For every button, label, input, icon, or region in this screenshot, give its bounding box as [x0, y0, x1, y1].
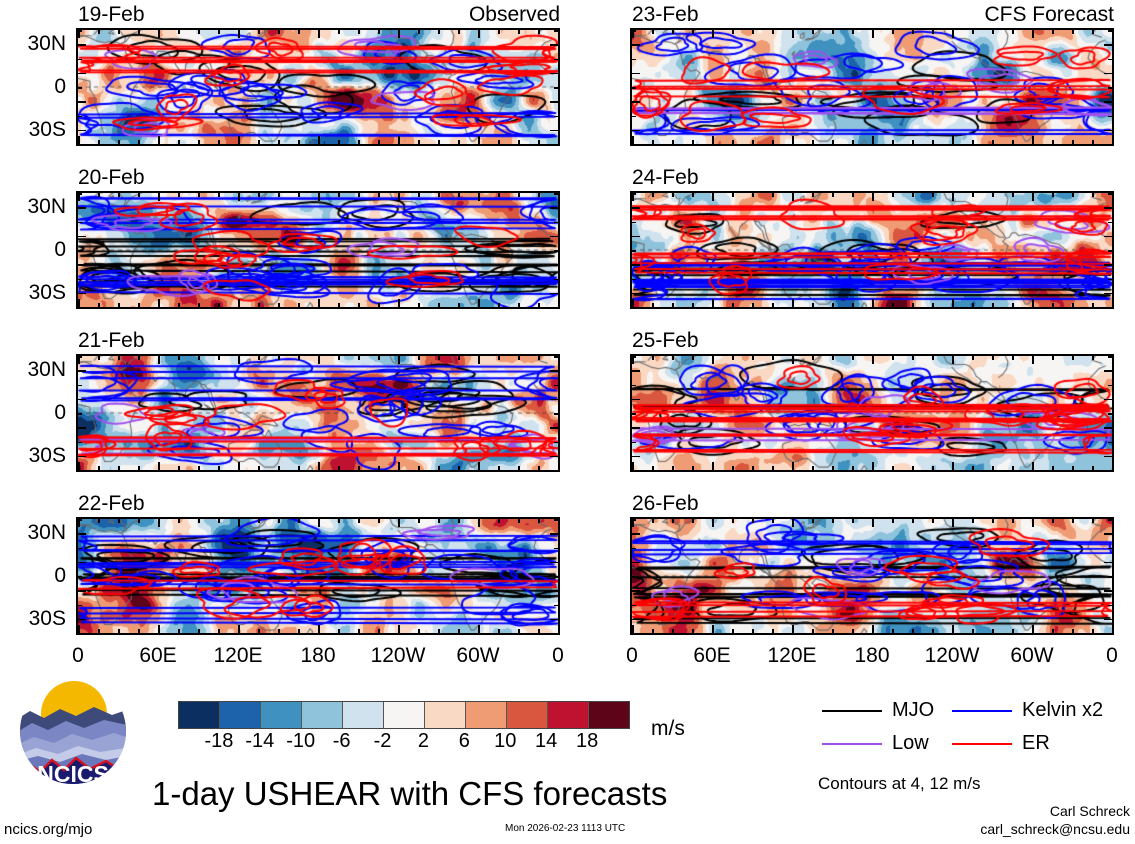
axis-tick: [438, 303, 440, 307]
axis-tick: [692, 629, 694, 633]
axis-tick: [692, 30, 694, 34]
axis-tick: [632, 87, 636, 89]
axis-tick: [1092, 519, 1094, 523]
axis-tick: [772, 303, 774, 307]
y-axis-tick-label: 30N: [0, 33, 66, 54]
axis-tick: [458, 30, 460, 34]
axis-tick: [1108, 30, 1112, 32]
axis-tick: [732, 193, 734, 197]
axis-tick: [1104, 73, 1112, 75]
axis-tick: [812, 466, 814, 470]
axis-tick: [258, 140, 260, 144]
axis-tick: [1072, 140, 1074, 144]
panel-date-label: 26-Feb: [632, 493, 699, 514]
ncics-logo-icon: NCICS: [14, 676, 132, 794]
axis-tick: [1032, 519, 1034, 527]
axis-tick: [458, 303, 460, 307]
axis-tick: [632, 44, 640, 46]
axis-tick: [478, 519, 480, 527]
axis-tick: [872, 136, 874, 144]
axis-tick: [1092, 193, 1094, 197]
axis-tick: [554, 144, 558, 146]
axis-tick: [518, 629, 520, 633]
axis-tick: [554, 356, 558, 358]
axis-tick: [892, 193, 894, 197]
ncics-logo: NCICS: [14, 676, 132, 794]
axis-tick: [972, 140, 974, 144]
map-panel-26-feb: [630, 517, 1114, 635]
axis-tick: [1108, 250, 1112, 252]
axis-tick: [78, 590, 86, 592]
axis-tick: [158, 299, 160, 307]
axis-tick: [892, 356, 894, 360]
axis-tick: [278, 356, 280, 360]
footer-email[interactable]: carl_schreck@ncsu.edu: [980, 821, 1130, 837]
y-axis-tick-label: 0: [0, 76, 66, 97]
axis-tick: [632, 307, 636, 309]
axis-tick: [538, 140, 540, 144]
axis-tick: [1112, 299, 1114, 307]
x-axis-tick-label: 0: [38, 645, 118, 666]
axis-tick: [78, 130, 86, 132]
colorbar-segment: [220, 702, 261, 728]
axis-tick: [652, 193, 654, 197]
axis-tick: [558, 625, 560, 633]
axis-tick: [198, 193, 200, 197]
axis-tick: [832, 140, 834, 144]
axis-tick: [554, 59, 558, 61]
axis-tick: [852, 519, 854, 523]
axis-tick: [218, 466, 220, 470]
column-title-forecast: CFS Forecast: [630, 4, 1114, 25]
y-axis-tick-label: 30S: [0, 119, 66, 140]
axis-tick: [1032, 625, 1034, 633]
colorbar-segment: [425, 702, 466, 728]
axis-tick: [478, 299, 480, 307]
axis-tick: [138, 303, 140, 307]
map-panel-20-feb: [76, 191, 560, 309]
map-panel-21-feb: [76, 354, 560, 472]
axis-tick: [418, 519, 420, 523]
axis-tick: [338, 30, 340, 34]
axis-tick: [118, 140, 120, 144]
axis-tick: [1052, 356, 1054, 360]
axis-tick: [238, 30, 240, 38]
axis-tick: [1108, 576, 1112, 578]
axis-tick: [752, 519, 754, 523]
axis-tick: [550, 590, 558, 592]
map-canvas: [632, 356, 1112, 470]
map-panel-24-feb: [630, 191, 1114, 309]
axis-tick: [752, 193, 754, 197]
axis-tick: [78, 136, 80, 144]
axis-tick: [378, 140, 380, 144]
axis-tick: [378, 466, 380, 470]
axis-tick: [772, 629, 774, 633]
axis-tick: [1032, 193, 1034, 201]
axis-tick: [732, 466, 734, 470]
axis-tick: [752, 140, 754, 144]
axis-tick: [712, 462, 714, 470]
axis-tick: [198, 140, 200, 144]
axis-tick: [238, 462, 240, 470]
axis-tick: [952, 30, 954, 38]
axis-tick: [912, 629, 914, 633]
axis-tick: [550, 427, 558, 429]
svg-text:NCICS: NCICS: [37, 761, 109, 787]
axis-tick: [398, 356, 400, 364]
panel-date-label: 24-Feb: [632, 167, 699, 188]
axis-tick: [198, 356, 200, 360]
axis-tick: [732, 140, 734, 144]
x-axis-tick-label: 0: [592, 645, 672, 666]
axis-tick: [554, 442, 558, 444]
axis-tick: [238, 193, 240, 201]
map-canvas: [632, 519, 1112, 633]
axis-tick: [1108, 116, 1112, 118]
y-axis-tick-label: 30N: [0, 196, 66, 217]
axis-tick: [278, 303, 280, 307]
axis-tick: [1108, 222, 1112, 224]
axis-tick: [632, 250, 636, 252]
axis-tick: [358, 140, 360, 144]
axis-tick: [358, 303, 360, 307]
axis-tick: [932, 519, 934, 523]
axis-tick: [138, 466, 140, 470]
axis-tick: [1012, 466, 1014, 470]
axis-tick: [198, 519, 200, 523]
axis-tick: [78, 533, 86, 535]
axis-tick: [554, 279, 558, 281]
axis-tick: [498, 303, 500, 307]
axis-tick: [338, 356, 340, 360]
axis-tick: [652, 140, 654, 144]
axis-tick: [632, 633, 636, 635]
axis-tick: [1012, 30, 1014, 34]
axis-tick: [158, 30, 160, 38]
map-canvas: [78, 30, 558, 144]
y-axis-tick-label: 0: [0, 565, 66, 586]
axis-tick: [1108, 633, 1112, 635]
axis-tick: [632, 470, 636, 472]
axis-tick: [78, 101, 86, 103]
axis-tick: [632, 59, 636, 61]
axis-tick: [178, 303, 180, 307]
axis-tick: [892, 466, 894, 470]
axis-tick: [632, 264, 640, 266]
axis-tick: [258, 629, 260, 633]
axis-tick: [1032, 299, 1034, 307]
axis-tick: [554, 576, 558, 578]
axis-tick: [550, 293, 558, 295]
x-axis-tick-label: 180: [278, 645, 358, 666]
axis-tick: [672, 629, 674, 633]
axis-tick: [558, 136, 560, 144]
axis-tick: [1108, 385, 1112, 387]
axis-tick: [78, 548, 82, 550]
axis-tick: [418, 193, 420, 197]
axis-tick: [752, 303, 754, 307]
axis-tick: [1052, 466, 1054, 470]
axis-tick: [178, 140, 180, 144]
axis-tick: [632, 456, 640, 458]
axis-tick: [518, 140, 520, 144]
axis-tick: [78, 30, 82, 32]
axis-tick: [138, 193, 140, 197]
axis-tick: [912, 140, 914, 144]
axis-tick: [632, 236, 640, 238]
axis-tick: [812, 629, 814, 633]
axis-tick: [518, 193, 520, 197]
axis-tick: [98, 30, 100, 34]
axis-tick: [398, 193, 400, 201]
axis-tick: [632, 576, 636, 578]
axis-tick: [78, 370, 86, 372]
axis-tick: [438, 30, 440, 34]
axis-tick: [952, 462, 954, 470]
axis-tick: [1092, 303, 1094, 307]
axis-tick: [1104, 293, 1112, 295]
axis-tick: [1052, 519, 1054, 523]
axis-tick: [238, 625, 240, 633]
axis-tick: [554, 633, 558, 635]
axis-tick: [358, 193, 360, 197]
axis-tick: [832, 30, 834, 34]
axis-tick: [732, 356, 734, 360]
axis-tick: [712, 193, 714, 201]
x-axis-tick-label: 60W: [438, 645, 518, 666]
axis-tick: [138, 30, 140, 34]
axis-tick: [258, 519, 260, 523]
axis-tick: [632, 619, 640, 621]
colorbar-tick-label: 18: [559, 731, 615, 751]
axis-tick: [298, 466, 300, 470]
axis-tick: [852, 303, 854, 307]
axis-tick: [1052, 30, 1054, 34]
axis-tick: [398, 519, 400, 527]
axis-tick: [792, 30, 794, 38]
axis-tick: [498, 519, 500, 523]
axis-tick: [772, 466, 774, 470]
axis-tick: [652, 303, 654, 307]
legend-label-low: Low: [892, 733, 929, 753]
axis-tick: [632, 370, 640, 372]
footer-site-link[interactable]: ncics.org/mjo: [4, 822, 92, 837]
axis-tick: [78, 413, 82, 415]
axis-tick: [538, 519, 540, 523]
axis-tick: [792, 462, 794, 470]
axis-tick: [852, 629, 854, 633]
axis-tick: [792, 519, 794, 527]
axis-tick: [158, 462, 160, 470]
axis-tick: [218, 193, 220, 197]
axis-tick: [912, 193, 914, 197]
axis-tick: [554, 413, 558, 415]
axis-tick: [78, 633, 82, 635]
legend-label-kelvin-x2: Kelvin x2: [1022, 700, 1103, 720]
axis-tick: [358, 629, 360, 633]
axis-tick: [672, 519, 674, 523]
axis-tick: [258, 466, 260, 470]
axis-tick: [892, 140, 894, 144]
axis-tick: [178, 193, 180, 197]
legend-line-er: [952, 743, 1012, 745]
colorbar-segment: [179, 702, 220, 728]
axis-tick: [78, 619, 86, 621]
axis-tick: [178, 30, 180, 34]
colorbar-segment: [261, 702, 302, 728]
axis-tick: [338, 519, 340, 523]
axis-tick: [178, 356, 180, 360]
axis-tick: [538, 30, 540, 34]
axis-tick: [558, 356, 560, 364]
y-axis-tick-label: 30N: [0, 522, 66, 543]
axis-tick: [554, 30, 558, 32]
axis-tick: [78, 87, 82, 89]
axis-tick: [1104, 456, 1112, 458]
y-axis-tick-label: 30S: [0, 608, 66, 629]
axis-tick: [478, 193, 480, 201]
axis-tick: [792, 193, 794, 201]
axis-tick: [632, 413, 636, 415]
axis-tick: [498, 466, 500, 470]
axis-tick: [1072, 519, 1074, 523]
axis-tick: [318, 462, 320, 470]
axis-tick: [872, 462, 874, 470]
axis-tick: [418, 466, 420, 470]
axis-tick: [478, 30, 480, 38]
axis-tick: [298, 356, 300, 360]
axis-tick: [218, 356, 220, 360]
axis-tick: [78, 356, 82, 358]
axis-tick: [912, 356, 914, 360]
axis-tick: [632, 101, 640, 103]
axis-tick: [554, 548, 558, 550]
axis-tick: [672, 303, 674, 307]
axis-tick: [932, 356, 934, 360]
axis-tick: [632, 399, 640, 401]
x-axis-tick-label: 0: [518, 645, 598, 666]
map-panel-23-feb: [630, 28, 1114, 146]
axis-tick: [518, 303, 520, 307]
axis-tick: [554, 116, 558, 118]
axis-tick: [538, 466, 540, 470]
axis-tick: [972, 519, 974, 523]
axis-tick: [772, 30, 774, 34]
axis-tick: [554, 385, 558, 387]
axis-tick: [892, 30, 894, 34]
map-canvas: [78, 193, 558, 307]
axis-tick: [812, 356, 814, 360]
axis-tick: [932, 303, 934, 307]
axis-tick: [1104, 427, 1112, 429]
axis-tick: [554, 222, 558, 224]
x-axis-tick-label: 120E: [752, 645, 832, 666]
contour-interval-note: Contours at 4, 12 m/s: [818, 775, 981, 792]
axis-tick: [752, 356, 754, 360]
axis-tick: [1112, 30, 1114, 38]
axis-tick: [338, 629, 340, 633]
axis-tick: [98, 356, 100, 360]
axis-tick: [632, 548, 636, 550]
map-canvas: [632, 193, 1112, 307]
axis-tick: [1108, 605, 1112, 607]
axis-tick: [932, 30, 934, 34]
axis-tick: [554, 87, 558, 89]
axis-tick: [238, 356, 240, 364]
axis-tick: [672, 356, 674, 360]
axis-tick: [218, 30, 220, 34]
axis-tick: [78, 279, 82, 281]
axis-tick: [398, 625, 400, 633]
axis-tick: [972, 30, 974, 34]
axis-tick: [632, 533, 640, 535]
axis-tick: [632, 462, 634, 470]
axis-tick: [1052, 303, 1054, 307]
axis-tick: [418, 140, 420, 144]
axis-tick: [98, 193, 100, 197]
footer-timestamp: Mon 2026-02-23 1113 UTC: [505, 824, 625, 834]
panel-date-label: 25-Feb: [632, 330, 699, 351]
axis-tick: [732, 303, 734, 307]
axis-tick: [1012, 140, 1014, 144]
axis-tick: [178, 466, 180, 470]
axis-tick: [118, 356, 120, 360]
axis-tick: [772, 140, 774, 144]
axis-tick: [772, 356, 774, 360]
axis-tick: [812, 519, 814, 523]
axis-tick: [1108, 59, 1112, 61]
axis-tick: [672, 30, 674, 34]
axis-tick: [238, 299, 240, 307]
axis-tick: [712, 356, 714, 364]
axis-tick: [852, 140, 854, 144]
axis-tick: [652, 30, 654, 34]
axis-tick: [338, 140, 340, 144]
x-axis-tick-label: 0: [1072, 645, 1135, 666]
axis-tick: [418, 356, 420, 360]
axis-tick: [852, 193, 854, 197]
axis-tick: [692, 303, 694, 307]
axis-tick: [78, 44, 86, 46]
axis-tick: [550, 73, 558, 75]
axis-tick: [218, 140, 220, 144]
axis-tick: [1108, 193, 1112, 195]
axis-tick: [498, 30, 500, 34]
axis-tick: [498, 629, 500, 633]
axis-tick: [438, 629, 440, 633]
axis-tick: [992, 466, 994, 470]
axis-tick: [1104, 130, 1112, 132]
axis-tick: [318, 30, 320, 38]
axis-tick: [550, 619, 558, 621]
axis-tick: [1108, 307, 1112, 309]
axis-tick: [298, 140, 300, 144]
axis-tick: [912, 466, 914, 470]
axis-tick: [338, 466, 340, 470]
axis-tick: [78, 462, 80, 470]
x-axis-tick-label: 180: [832, 645, 912, 666]
axis-tick: [278, 466, 280, 470]
axis-tick: [1072, 193, 1074, 197]
x-axis-tick-label: 120W: [358, 645, 438, 666]
axis-tick: [418, 303, 420, 307]
legend-line-low: [822, 743, 882, 745]
map-panel-25-feb: [630, 354, 1114, 472]
axis-tick: [692, 519, 694, 523]
axis-tick: [752, 30, 754, 34]
axis-tick: [78, 576, 82, 578]
